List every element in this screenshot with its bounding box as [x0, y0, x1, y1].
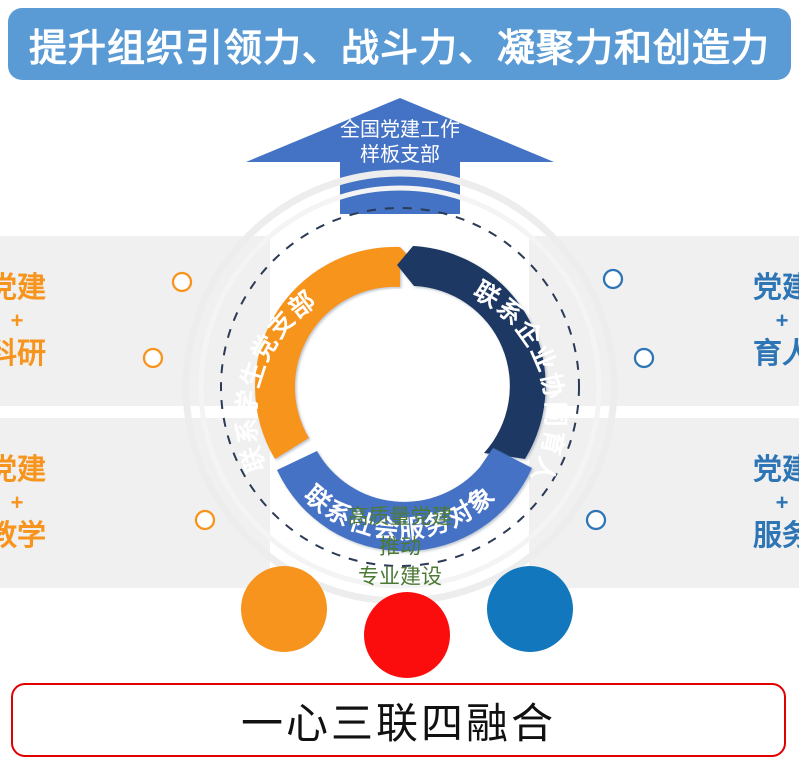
- orange-dot: [241, 566, 327, 652]
- ring-marker-orange-3: [196, 511, 214, 529]
- central-wheel: 联系学生党支部 联系企业协同育人 联系社会服务对象 高质量党建 推动 专业建设: [95, 160, 705, 590]
- panel-right-education-bottom: 育人: [753, 337, 799, 371]
- title-banner: 提升组织引领力、战斗力、凝聚力和创造力: [8, 8, 791, 80]
- panel-right-service-top: 党建: [753, 453, 799, 487]
- panel-right-service-plus: +: [776, 490, 789, 516]
- red-dot: [364, 592, 450, 678]
- panel-left-teaching-bottom: 教学: [0, 519, 46, 553]
- footer-title: 一心三联四融合: [241, 690, 556, 751]
- panel-right-service-bottom: 服务: [753, 519, 799, 553]
- panel-left-research-bottom: 科研: [0, 337, 46, 371]
- panel-left-teaching-plus: +: [11, 490, 24, 516]
- panel-right-education-top: 党建: [753, 271, 799, 305]
- page-title: 提升组织引领力、战斗力、凝聚力和创造力: [29, 17, 770, 72]
- ring-marker-orange-1: [173, 273, 191, 291]
- ring-marker-blue-1: [604, 270, 622, 288]
- footer-banner: 一心三联四融合: [11, 683, 786, 757]
- ring-marker-orange-2: [144, 349, 162, 367]
- panel-left-research-top: 党建: [0, 271, 46, 305]
- ring-marker-blue-3: [587, 511, 605, 529]
- ring-marker-blue-2: [635, 349, 653, 367]
- blue-dot: [487, 566, 573, 652]
- panel-right-education-plus: +: [776, 308, 789, 334]
- panel-left-teaching-top: 党建: [0, 453, 46, 487]
- infographic-canvas: 提升组织引领力、战斗力、凝聚力和创造力 党建 + 科研 党建 + 教学 党建 +…: [0, 0, 799, 769]
- wheel-center-disc: [302, 289, 498, 485]
- panel-left-research-plus: +: [11, 308, 24, 334]
